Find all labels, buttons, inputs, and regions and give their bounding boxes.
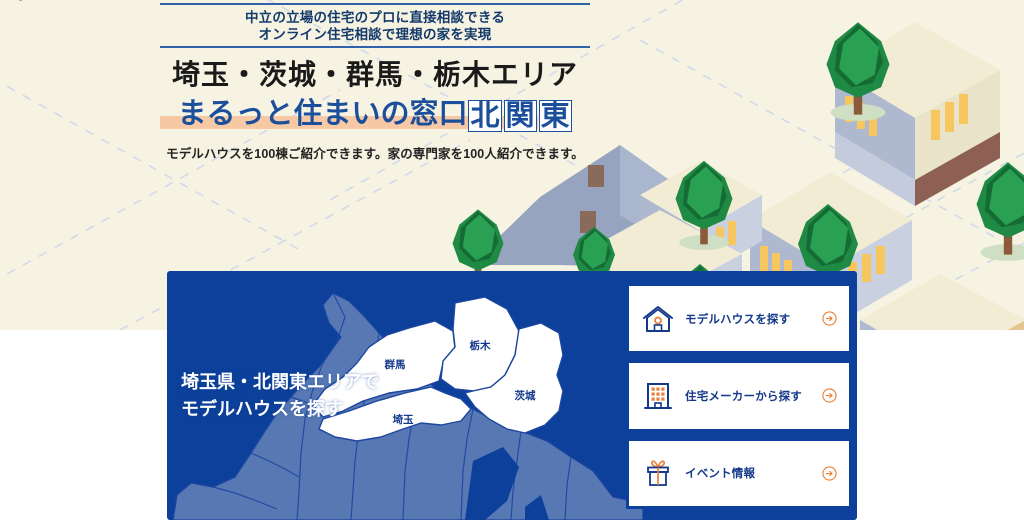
prefecture-label-tochigi: 栃木 xyxy=(470,339,491,352)
brand-box-char-2: 関 xyxy=(504,100,537,132)
landing-page: 中立の立場の住宅のプロに直接相談できる オンライン住宅相談で理想の家を実現 埼玉… xyxy=(0,0,1024,529)
arrow-right-circle-icon[interactable] xyxy=(822,466,837,481)
hero-tagline: 中立の立場の住宅のプロに直接相談できる オンライン住宅相談で理想の家を実現 xyxy=(160,5,590,46)
card-label: イベント情報 xyxy=(685,465,812,481)
hero-headline: 中立の立場の住宅のプロに直接相談できる オンライン住宅相談で理想の家を実現 埼玉… xyxy=(160,0,590,162)
rule-bottom xyxy=(160,46,590,48)
brand-box-char-1: 北 xyxy=(468,100,501,132)
hero-tagline-line1: 中立の立場の住宅のプロに直接相談できる xyxy=(160,9,590,26)
card-label: 住宅メーカーから探す xyxy=(685,388,812,404)
house-icon xyxy=(641,302,675,336)
panel-title-line1: 埼玉県・北関東エリアで xyxy=(181,369,379,396)
hero-brand: まるっと住まいの窓口北関東 xyxy=(160,97,590,131)
gift-icon xyxy=(641,456,675,490)
card-event-info[interactable]: イベント情報 xyxy=(626,438,852,509)
brand-box-char-3: 東 xyxy=(539,100,572,132)
prefecture-label-saitama: 埼玉 xyxy=(393,413,414,426)
card-find-by-maker[interactable]: 住宅メーカーから探す xyxy=(626,360,852,431)
panel-title-line2: モデルハウスを探す xyxy=(181,396,379,423)
prefecture-label-ibaraki: 茨城 xyxy=(515,389,536,402)
hero-lead-text: モデルハウスを100棟ご紹介できます。家の専門家を100人紹介できます。 xyxy=(160,143,590,162)
card-find-model-house[interactable]: モデルハウスを探す xyxy=(626,283,852,354)
building-icon xyxy=(641,379,675,413)
panel-title: 埼玉県・北関東エリアで モデルハウスを探す xyxy=(181,369,379,423)
action-card-list: モデルハウスを探す 住宅メーカーから探す xyxy=(626,283,852,509)
hero-tagline-line2: オンライン住宅相談で理想の家を実現 xyxy=(160,26,590,43)
brand-main-text: まるっと住まいの窓口 xyxy=(177,98,467,130)
arrow-right-circle-icon[interactable] xyxy=(822,311,837,326)
card-label: モデルハウスを探す xyxy=(685,311,812,327)
hero-area-heading: 埼玉・茨城・群馬・栃木エリア xyxy=(160,61,590,89)
prefecture-label-gunma: 群馬 xyxy=(385,358,406,371)
arrow-right-circle-icon[interactable] xyxy=(822,388,837,403)
